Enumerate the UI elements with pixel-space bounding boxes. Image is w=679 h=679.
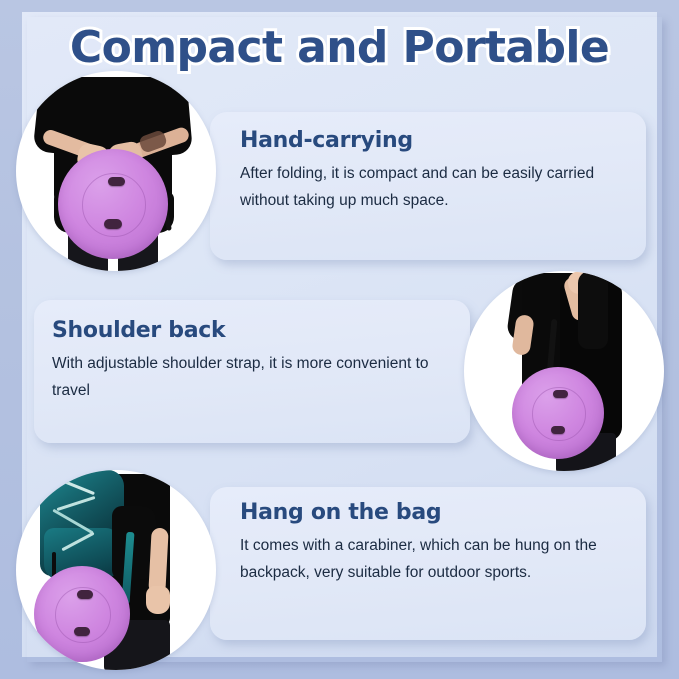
photo-hang-on-the-bag [16, 470, 216, 670]
page-title-wrap: Compact and Portable [0, 22, 679, 73]
feature-body-shoulder-back: With adjustable shoulder strap, it is mo… [52, 350, 442, 404]
scene-hang-on-the-bag [16, 470, 216, 670]
hair [578, 271, 608, 349]
product-clip-bottom [551, 426, 566, 434]
product-clip-top [553, 390, 568, 398]
page-title: Compact and Portable [70, 22, 609, 73]
feature-text-hand-carrying: Hand-carrying After folding, it is compa… [240, 128, 640, 214]
feature-heading-shoulder-back: Shoulder back [52, 318, 442, 343]
feature-heading-hang-on-the-bag: Hang on the bag [240, 500, 640, 525]
product-clip-bottom [104, 219, 122, 229]
feature-body-hang-on-the-bag: It comes with a carabiner, which can be … [240, 532, 640, 586]
scene-shoulder-back [464, 271, 664, 471]
product-clip-bottom [74, 627, 89, 636]
folded-product-disc [58, 149, 168, 259]
product-clip-top [77, 590, 92, 599]
feature-heading-hand-carrying: Hand-carrying [240, 128, 640, 153]
feature-text-shoulder-back: Shoulder back With adjustable shoulder s… [52, 318, 442, 404]
feature-text-hang-on-the-bag: Hang on the bag It comes with a carabine… [240, 500, 640, 586]
folded-product-disc [512, 367, 604, 459]
product-clip-top [108, 177, 126, 187]
feature-body-hand-carrying: After folding, it is compact and can be … [240, 160, 640, 214]
scene-hand-carrying [16, 71, 216, 271]
photo-shoulder-back [464, 271, 664, 471]
arm [148, 528, 168, 595]
photo-hand-carrying [16, 71, 216, 271]
hand [146, 586, 170, 614]
infographic-stage: Compact and Portable Hand-carrying A [0, 0, 679, 679]
folded-product-disc [34, 566, 130, 662]
